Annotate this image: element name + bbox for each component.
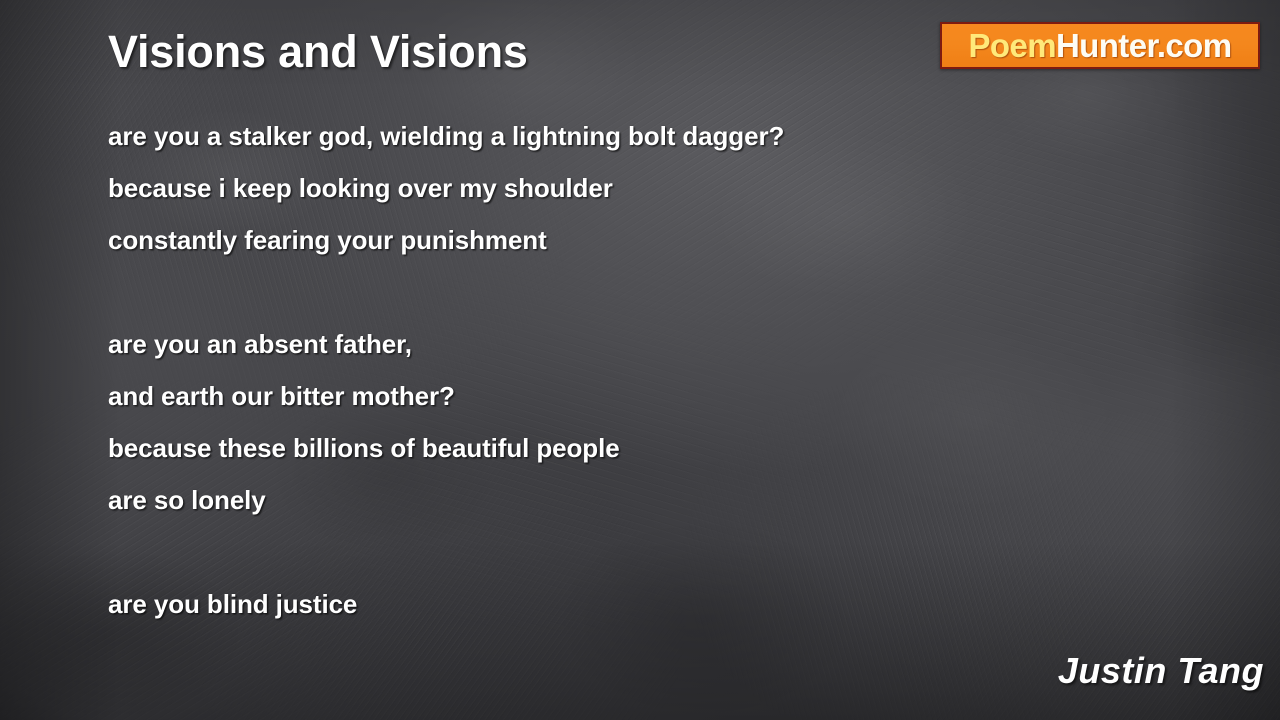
poem-line: constantly fearing your punishment	[108, 214, 1148, 266]
logo-wordmark: PoemHunter.com	[968, 29, 1231, 62]
poem-line: and earth our bitter mother?	[108, 370, 1148, 422]
logo-text-hunter: Hunter.com	[1056, 27, 1232, 64]
poem-stanza-break	[108, 526, 1148, 578]
poemhunter-logo[interactable]: PoemHunter.com	[940, 22, 1260, 69]
poem-stanza-break	[108, 266, 1148, 318]
poem-line: are you blind justice	[108, 578, 1148, 630]
poem-body: are you a stalker god, wielding a lightn…	[108, 110, 1148, 630]
poem-line: because these billions of beautiful peop…	[108, 422, 1148, 474]
poem-line: are you a stalker god, wielding a lightn…	[108, 110, 1148, 162]
poem-content: Visions and Visions are you a stalker go…	[0, 0, 1280, 720]
poem-title: Visions and Visions	[108, 26, 528, 78]
poem-line: are you an absent father,	[108, 318, 1148, 370]
poem-line: because i keep looking over my shoulder	[108, 162, 1148, 214]
logo-text-poem: Poem	[968, 27, 1055, 64]
poem-line: are so lonely	[108, 474, 1148, 526]
poem-image-card: Visions and Visions are you a stalker go…	[0, 0, 1280, 720]
poem-author-signature: Justin Tang	[1058, 650, 1264, 692]
